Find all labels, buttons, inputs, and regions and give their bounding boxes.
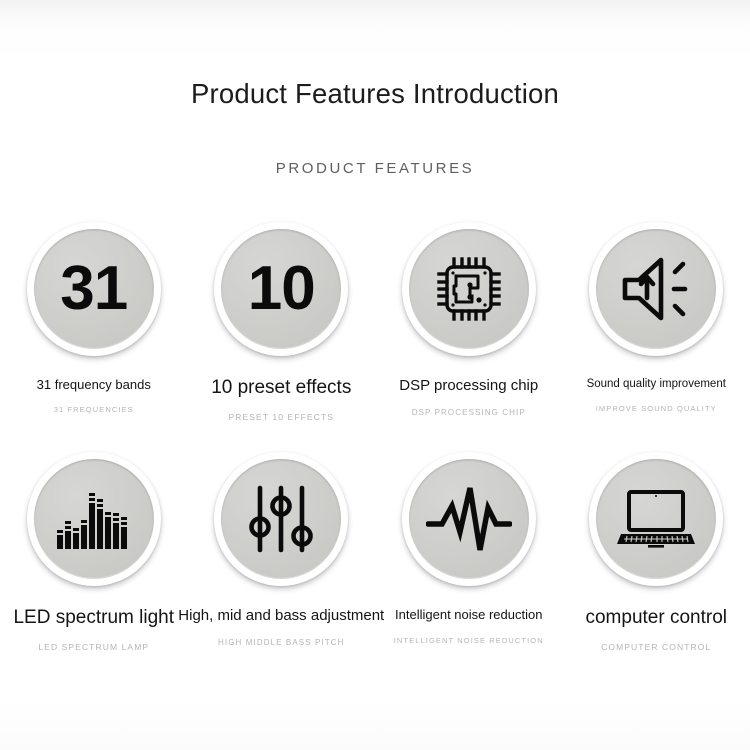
feature-item-31-frequency-bands[interactable]: 31 31 frequency bands 31 FREQUENCIES	[0, 222, 188, 422]
page-subtitle: PRODUCT FEATURES	[0, 160, 750, 177]
feature-item-10-preset-effects[interactable]: 10 10 preset effects PRESET 10 EFFECTS	[188, 222, 376, 422]
feature-sublabel: LED SPECTRUM LAMP	[38, 643, 149, 652]
speaker-volume-up-icon	[617, 254, 695, 324]
equalizer-spectrum-icon	[55, 487, 133, 551]
number-31: 31	[60, 258, 127, 320]
feature-disc: 31	[27, 222, 161, 356]
feature-row: LED spectrum light LED SPECTRUM LAMP	[0, 452, 750, 652]
feature-item-dsp-processing-chip[interactable]: DSP processing chip DSP PROCESSING CHIP	[375, 222, 563, 422]
feature-disc	[402, 452, 536, 586]
feature-item-high-mid-bass-adjustment[interactable]: High, mid and bass adjustment HIGH MIDDL…	[188, 452, 376, 652]
feature-label: High, mid and bass adjustment	[178, 608, 384, 625]
disc-face: 31	[34, 229, 154, 349]
feature-sublabel: DSP PROCESSING CHIP	[412, 409, 526, 418]
feature-label: Intelligent noise reduction	[395, 608, 542, 622]
feature-sublabel: IMPROVE SOUND QUALITY	[596, 405, 717, 413]
feature-label: Sound quality improvement	[587, 378, 726, 391]
page-title: Product Features Introduction	[0, 78, 750, 110]
feature-sublabel: COMPUTER CONTROL	[601, 643, 711, 652]
disc-face: 10	[221, 229, 341, 349]
disc-face	[596, 459, 716, 579]
feature-disc	[27, 452, 161, 586]
disc-face	[409, 229, 529, 349]
number-10: 10	[248, 258, 315, 320]
disc-face	[596, 229, 716, 349]
feature-sublabel: HIGH MIDDLE BASS PITCH	[218, 639, 344, 648]
feature-disc	[589, 222, 723, 356]
feature-sublabel: 31 FREQUENCIES	[54, 406, 134, 414]
feature-label: DSP processing chip	[399, 378, 538, 395]
disc-face	[409, 459, 529, 579]
feature-sublabel: INTELLIGENT NOISE REDUCTION	[394, 637, 544, 645]
feature-disc	[589, 452, 723, 586]
feature-label: 31 frequency bands	[37, 378, 151, 392]
feature-disc	[402, 222, 536, 356]
feature-row: 31 31 frequency bands 31 FREQUENCIES 10 …	[0, 222, 750, 422]
feature-item-led-spectrum-light[interactable]: LED spectrum light LED SPECTRUM LAMP	[0, 452, 188, 652]
disc-face	[221, 459, 341, 579]
disc-face	[34, 459, 154, 579]
feature-item-intelligent-noise-reduction[interactable]: Intelligent noise reduction INTELLIGENT …	[375, 452, 563, 652]
feature-label: LED spectrum light	[13, 608, 174, 629]
feature-item-computer-control[interactable]: computer control COMPUTER CONTROL	[563, 452, 750, 652]
laptop-icon	[615, 488, 697, 550]
feature-disc: 10	[214, 222, 348, 356]
slider-controls-icon	[247, 482, 315, 556]
cpu-chip-icon	[432, 252, 506, 326]
feature-grid: 31 31 frequency bands 31 FREQUENCIES 10 …	[0, 222, 750, 652]
waveform-pulse-icon	[426, 486, 512, 552]
feature-sublabel: PRESET 10 EFFECTS	[229, 413, 334, 422]
feature-label: 10 preset effects	[211, 378, 351, 399]
feature-label: computer control	[585, 608, 727, 629]
feature-disc	[214, 452, 348, 586]
product-features-page: Product Features Introduction PRODUCT FE…	[0, 0, 750, 750]
feature-item-sound-quality-improvement[interactable]: Sound quality improvement IMPROVE SOUND …	[563, 222, 750, 422]
